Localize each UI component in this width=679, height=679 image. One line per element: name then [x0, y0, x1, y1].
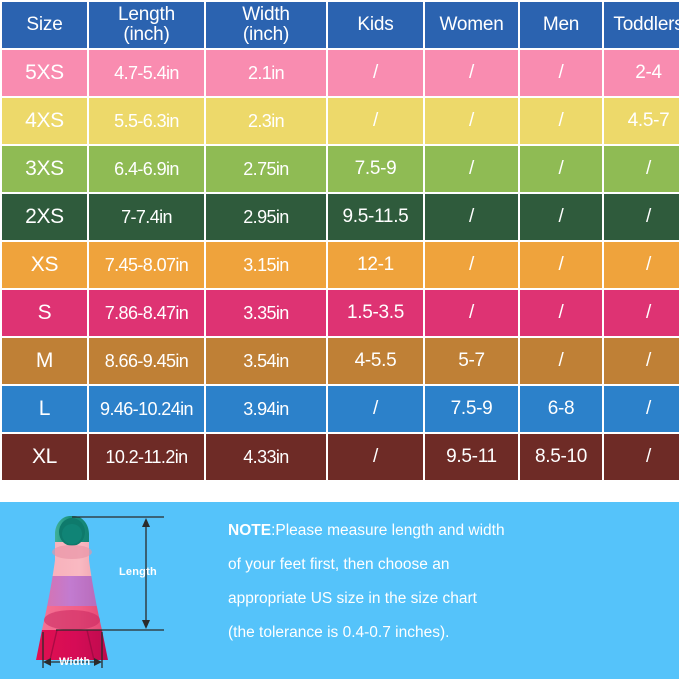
note-line-3: appropriate US size in the size chart [228, 582, 668, 616]
table-body: 5XS4.7-5.4in2.1in///2-44XS5.5-6.3in2.3in… [2, 50, 679, 480]
cell-toddlers: / [604, 290, 679, 336]
cell-women: 9.5-11 [425, 434, 518, 480]
column-header-toddlers: Toddlers [604, 2, 679, 48]
cell-length: 6.4-6.9in [89, 146, 204, 192]
column-header-women-label: Women [439, 14, 503, 35]
cell-width: 2.75in [206, 146, 326, 192]
column-header-width-label: Width [242, 4, 290, 25]
cell-women: / [425, 50, 518, 96]
cell-toddlers: / [604, 146, 679, 192]
cell-toddlers: / [604, 386, 679, 432]
fin-heel-band [52, 545, 92, 559]
cell-length: 4.7-5.4in [89, 50, 204, 96]
note-text: NOTE:Please measure length and width of … [228, 514, 668, 650]
column-header-length: Length (inch) [89, 2, 204, 48]
table-row: 3XS6.4-6.9in2.75in7.5-9/// [2, 146, 679, 192]
cell-kids: 7.5-9 [328, 146, 423, 192]
table-row: 5XS4.7-5.4in2.1in///2-4 [2, 50, 679, 96]
cell-width: 3.35in [206, 290, 326, 336]
cell-men: / [520, 98, 602, 144]
table-row: 2XS7-7.4in2.95in9.5-11.5/// [2, 194, 679, 240]
cell-width: 4.33in [206, 434, 326, 480]
table-row: S7.86-8.47in3.35in1.5-3.5/// [2, 290, 679, 336]
column-header-length-label: Length [118, 4, 175, 25]
table-row: XS7.45-8.07in3.15in12-1/// [2, 242, 679, 288]
cell-kids: / [328, 434, 423, 480]
header-row: Size Length (inch) Width (inch) Kids Wom… [2, 2, 679, 48]
table-header: Size Length (inch) Width (inch) Kids Wom… [2, 2, 679, 48]
cell-men: 8.5-10 [520, 434, 602, 480]
cell-length: 7.86-8.47in [89, 290, 204, 336]
cell-size: 5XS [2, 50, 87, 96]
cell-toddlers: / [604, 242, 679, 288]
cell-kids: / [328, 98, 423, 144]
column-header-men: Men [520, 2, 602, 48]
size-chart-root: Size Length (inch) Width (inch) Kids Wom… [0, 0, 679, 679]
cell-width: 2.1in [206, 50, 326, 96]
note-label: NOTE [228, 522, 271, 539]
cell-size: L [2, 386, 87, 432]
length-dimension-label: Length [119, 566, 157, 578]
fin-foot-opening-inner [62, 524, 82, 544]
cell-kids: / [328, 50, 423, 96]
table-row: 4XS5.5-6.3in2.3in///4.5-7 [2, 98, 679, 144]
cell-toddlers: 4.5-7 [604, 98, 679, 144]
cell-toddlers: / [604, 338, 679, 384]
note-line-1: NOTE:Please measure length and width [228, 514, 668, 548]
cell-toddlers: / [604, 194, 679, 240]
cell-women: / [425, 242, 518, 288]
column-header-width-unit: (inch) [206, 25, 326, 45]
cell-size: 2XS [2, 194, 87, 240]
cell-width: 2.3in [206, 98, 326, 144]
fin-diagram: Length Width [12, 508, 212, 676]
cell-width: 3.54in [206, 338, 326, 384]
column-header-length-unit: (inch) [89, 25, 204, 45]
cell-women: 5-7 [425, 338, 518, 384]
fin-illustration-svg [12, 508, 212, 676]
cell-men: / [520, 242, 602, 288]
cell-width: 2.95in [206, 194, 326, 240]
cell-length: 9.46-10.24in [89, 386, 204, 432]
width-dimension-label: Width [59, 656, 90, 668]
cell-women: / [425, 98, 518, 144]
cell-women: / [425, 290, 518, 336]
cell-kids: 4-5.5 [328, 338, 423, 384]
cell-men: / [520, 50, 602, 96]
cell-toddlers: 2-4 [604, 50, 679, 96]
cell-length: 7-7.4in [89, 194, 204, 240]
cell-size: 4XS [2, 98, 87, 144]
column-header-size-label: Size [26, 14, 62, 35]
table-row: L9.46-10.24in3.94in/7.5-96-8/ [2, 386, 679, 432]
cell-length: 7.45-8.07in [89, 242, 204, 288]
cell-men: / [520, 146, 602, 192]
cell-women: 7.5-9 [425, 386, 518, 432]
cell-size: S [2, 290, 87, 336]
cell-kids: 12-1 [328, 242, 423, 288]
cell-width: 3.15in [206, 242, 326, 288]
cell-kids: 9.5-11.5 [328, 194, 423, 240]
table-row: M8.66-9.45in3.54in4-5.55-7// [2, 338, 679, 384]
cell-size: XL [2, 434, 87, 480]
note-line-2: of your feet first, then choose an [228, 548, 668, 582]
note-line-4: (the tolerance is 0.4-0.7 inches). [228, 616, 668, 650]
cell-kids: 1.5-3.5 [328, 290, 423, 336]
column-header-width: Width (inch) [206, 2, 326, 48]
cell-women: / [425, 194, 518, 240]
cell-women: / [425, 146, 518, 192]
table-row: XL10.2-11.2in4.33in/9.5-118.5-10/ [2, 434, 679, 480]
cell-size: 3XS [2, 146, 87, 192]
size-chart-table: Size Length (inch) Width (inch) Kids Wom… [0, 0, 679, 482]
cell-men: / [520, 194, 602, 240]
column-header-kids: Kids [328, 2, 423, 48]
cell-kids: / [328, 386, 423, 432]
fin-blade-vent [44, 610, 100, 630]
note-line-1-text: :Please measure length and width [271, 522, 505, 539]
cell-size: M [2, 338, 87, 384]
note-panel: Length Width NOTE:Please measure length … [0, 502, 679, 679]
column-header-toddlers-label: Toddlers [613, 14, 679, 35]
cell-toddlers: / [604, 434, 679, 480]
cell-length: 5.5-6.3in [89, 98, 204, 144]
cell-length: 8.66-9.45in [89, 338, 204, 384]
column-header-women: Women [425, 2, 518, 48]
cell-men: 6-8 [520, 386, 602, 432]
column-header-men-label: Men [543, 14, 579, 35]
column-header-kids-label: Kids [357, 14, 393, 35]
cell-men: / [520, 338, 602, 384]
cell-men: / [520, 290, 602, 336]
cell-width: 3.94in [206, 386, 326, 432]
cell-size: XS [2, 242, 87, 288]
cell-length: 10.2-11.2in [89, 434, 204, 480]
column-header-size: Size [2, 2, 87, 48]
